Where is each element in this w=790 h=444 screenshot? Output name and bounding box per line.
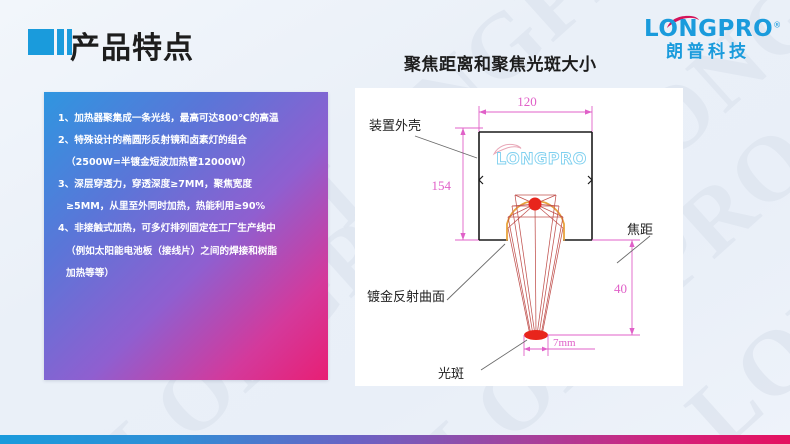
feature-item: 加热等等） [58, 269, 316, 279]
brand-logo: LONGPRO® 朗普科技 [644, 18, 772, 61]
diagram-title: 聚焦距离和聚焦光斑大小 [404, 50, 597, 75]
slide-canvas: LONGPRO LONGPRO LONGPRO LONGPRO LONGPRO … [0, 0, 790, 444]
brand-name-en-text: LONGPRO [644, 16, 773, 42]
leader-line-reflector [447, 244, 505, 300]
footer-gradient-bar [0, 435, 790, 444]
lamp-source [529, 198, 542, 211]
brand-name-cn: 朗普科技 [644, 44, 772, 61]
features-panel: 1、加热器聚集成一条光线，最高可达800℃的高温 2、特殊设计的椭圆形反射镜和卤… [44, 92, 328, 380]
feature-item: ≥5MM，从里至外同时加热，热能利用≥90% [58, 202, 316, 212]
housing-inner-logo: LONGPRO [494, 144, 587, 168]
page-title: 产品特点 [70, 23, 194, 67]
focus-diagram: 120 154 [355, 88, 683, 386]
feature-item: （例如太阳能电池板（接线片）之间的焊接和树脂 [58, 247, 316, 257]
dimension-focal-gap-label: 40 [614, 281, 627, 296]
feature-item: 4、非接触式加热，可多灯排列固定在工厂生产线中 [58, 224, 316, 234]
title-accent-bars [28, 29, 72, 55]
feature-item: （2500W=半镀金短波加热管12000W） [58, 158, 316, 168]
leader-line-housing [415, 136, 477, 158]
feature-item: 2、特殊设计的椭圆形反射镜和卤素灯的组合 [58, 136, 316, 146]
focal-spot [524, 330, 548, 340]
dimension-width [479, 106, 592, 132]
label-housing: 装置外壳 [369, 119, 421, 134]
housing-inner-logo-text: LONGPRO [496, 149, 587, 168]
brand-name-en: LONGPRO® [644, 18, 772, 41]
diagram-panel: 120 154 [355, 88, 683, 386]
registered-mark: ® [773, 20, 782, 29]
label-light-spot: 光斑 [438, 367, 464, 382]
label-focal-distance: 焦距 [627, 223, 653, 238]
features-list: 1、加热器聚集成一条光线，最高可达800℃的高温 2、特殊设计的椭圆形反射镜和卤… [44, 92, 328, 278]
leader-line-light-spot [481, 340, 527, 370]
ray-bundle [508, 195, 563, 335]
dimension-width-label: 120 [517, 94, 537, 109]
housing-notch-marks [479, 176, 592, 184]
label-reflector: 镀金反射曲面 [367, 289, 445, 305]
dimension-height-label: 154 [432, 178, 452, 193]
feature-item: 1、加热器聚集成一条光线，最高可达800℃的高温 [58, 114, 316, 124]
dimension-spot-size-label: 7mm [553, 337, 576, 349]
feature-item: 3、深层穿透力，穿透深度≥7MM，聚焦宽度 [58, 180, 316, 190]
